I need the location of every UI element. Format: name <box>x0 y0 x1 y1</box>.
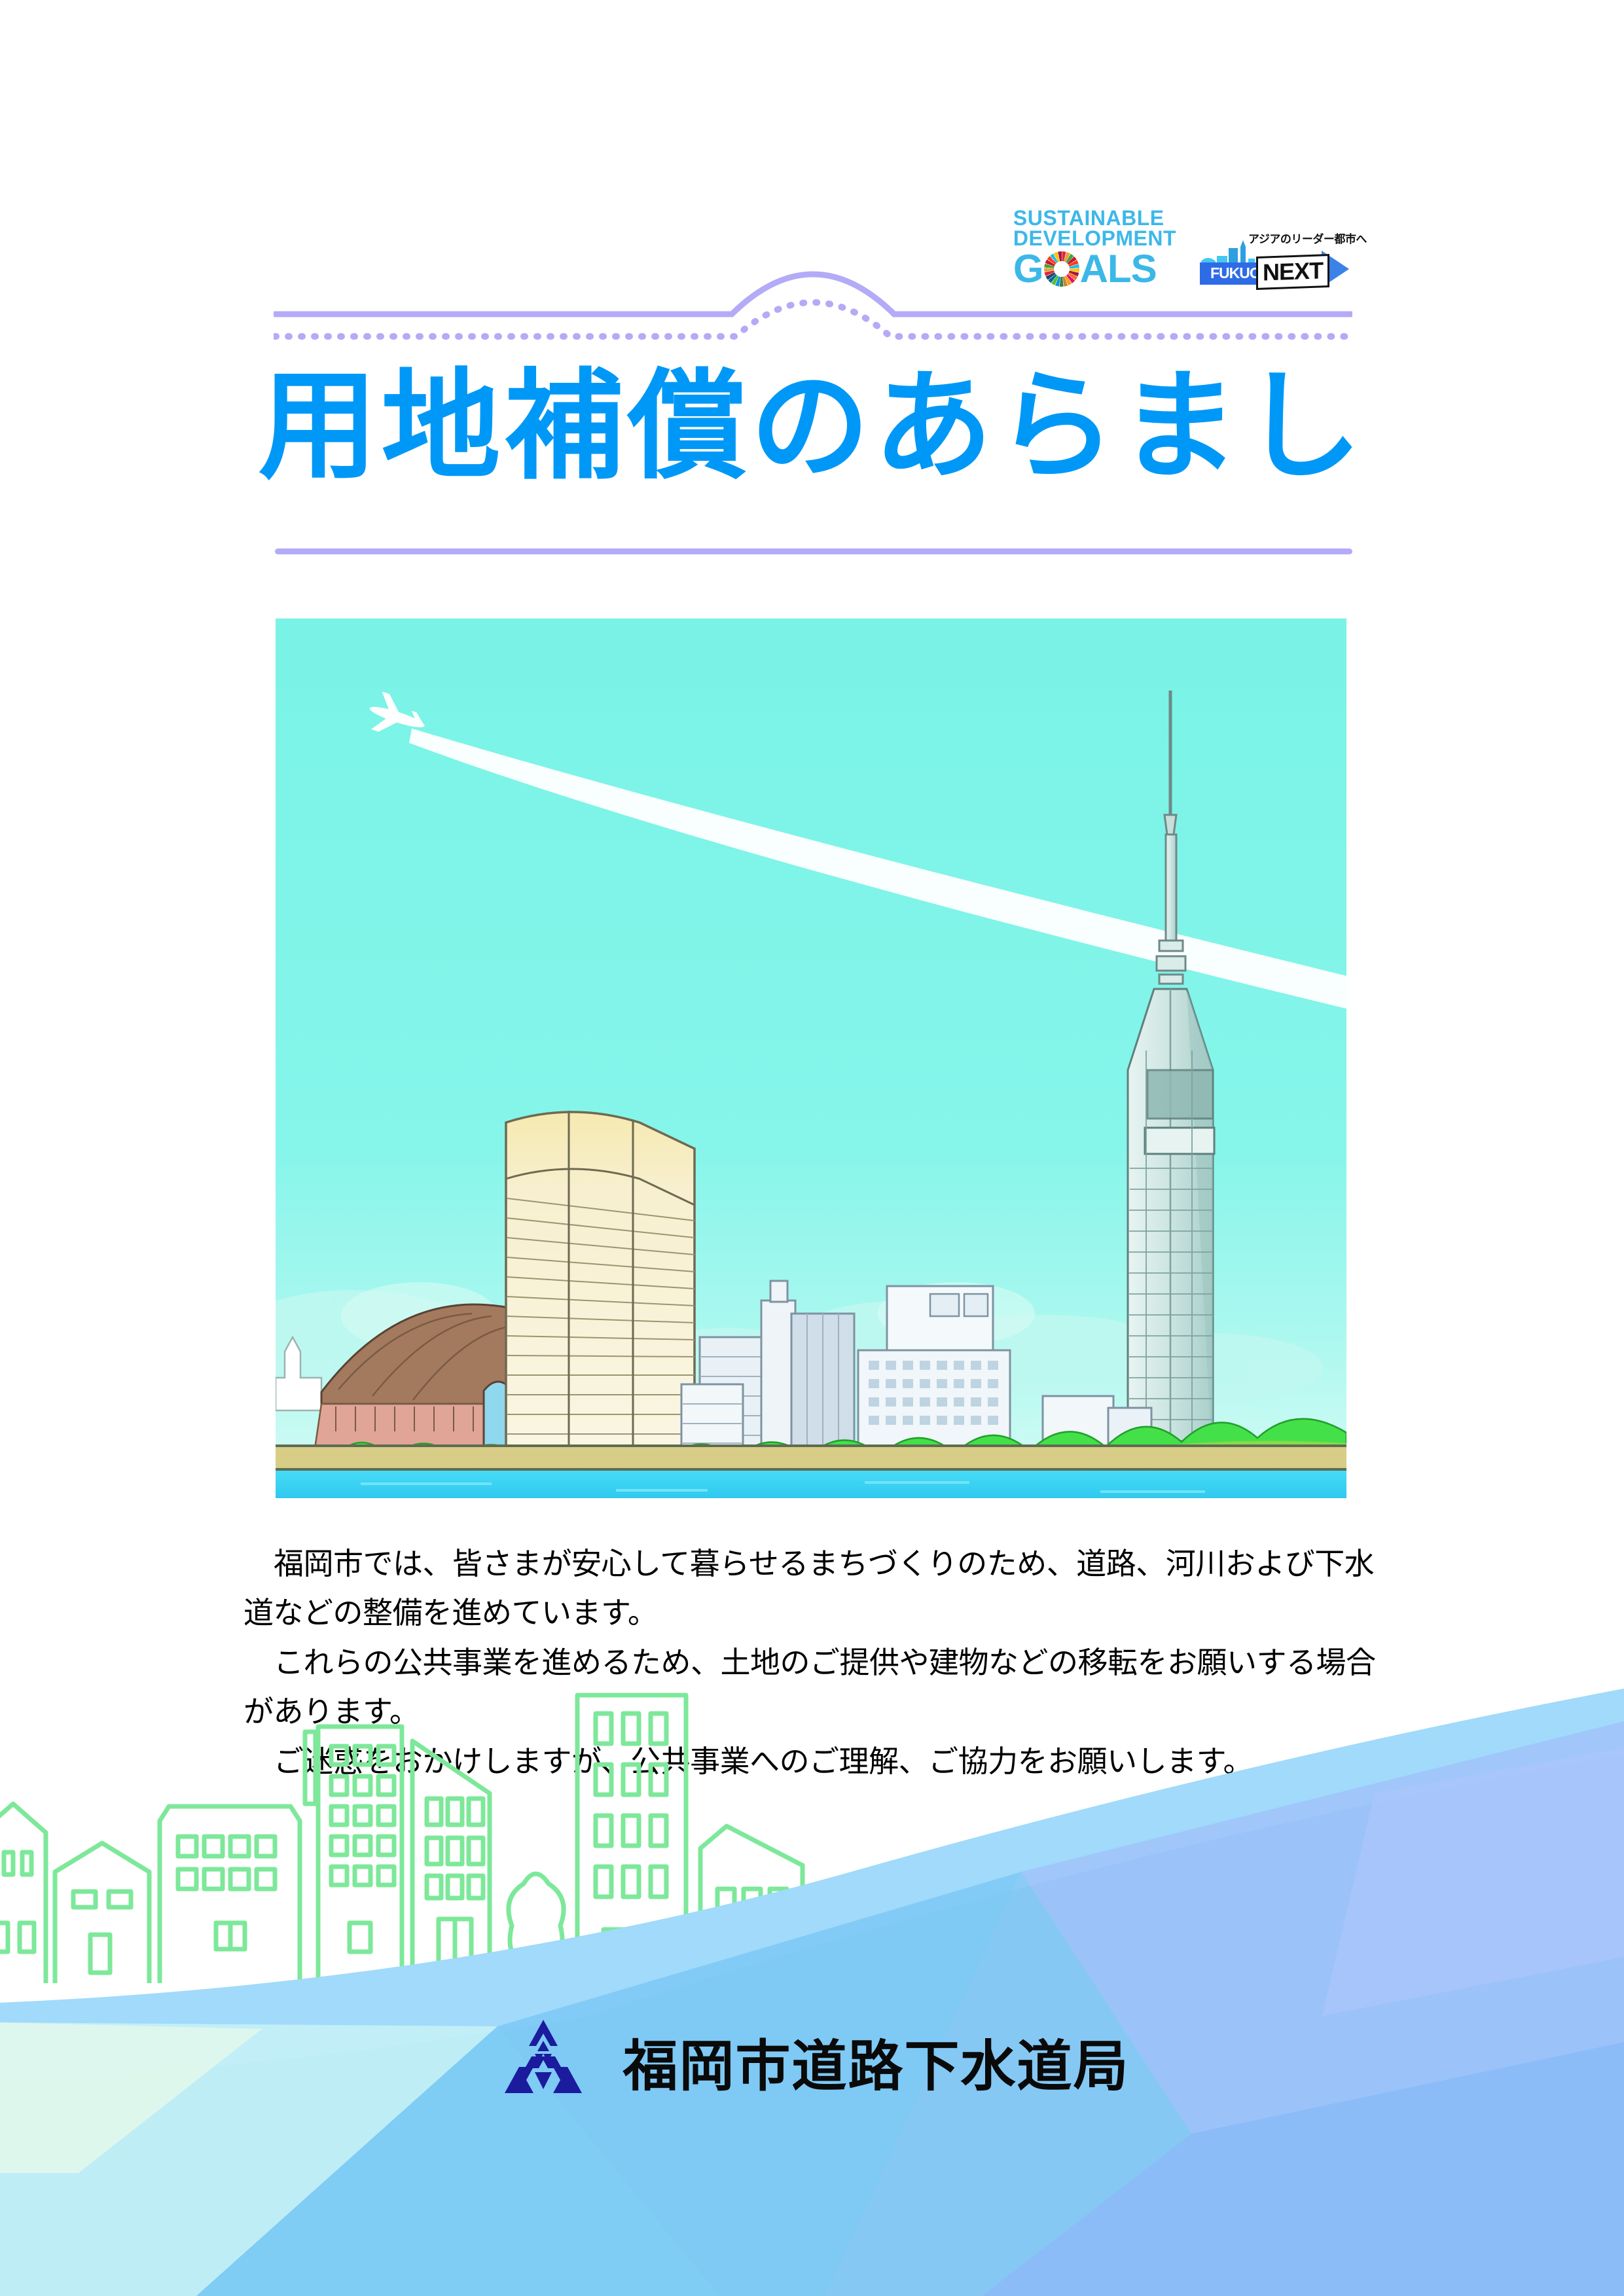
fukuoka-city-emblem <box>494 2016 592 2108</box>
polygonal-wave <box>0 1689 1624 2296</box>
bottom-decoration-svg <box>0 1676 1624 2296</box>
beach <box>276 1446 1346 1469</box>
page-title: 用地補償のあらまし <box>0 367 1624 486</box>
arch-rule-svg <box>274 257 1352 343</box>
illustration-svg <box>276 619 1346 1498</box>
footer: 福岡市道路下水道局 <box>0 2016 1624 2108</box>
decorative-arch-rule <box>274 257 1352 343</box>
sdg-line-development: DEVELOPMENT <box>1013 228 1176 249</box>
intro-paragraph-1: 福岡市では、皆さまが安心して暮らせるまちづくりのため、道路、河川および下水道など… <box>244 1539 1382 1637</box>
arch-dotted-line <box>275 302 1351 336</box>
arch-solid-line <box>275 274 1351 314</box>
bottom-decoration <box>0 1676 1624 2296</box>
organization-name: 福岡市道路下水道局 <box>623 2022 1129 2102</box>
sdg-line-sustainable: SUSTAINABLE <box>1013 208 1164 228</box>
fukuoka-skyline-illustration <box>276 619 1346 1498</box>
title-underline-rule <box>275 548 1352 554</box>
poster-page: SUSTAINABLE DEVELOPMENT G ALS アジアのリーダー都市… <box>0 0 1624 2296</box>
high-rise-hotel <box>506 1111 695 1463</box>
